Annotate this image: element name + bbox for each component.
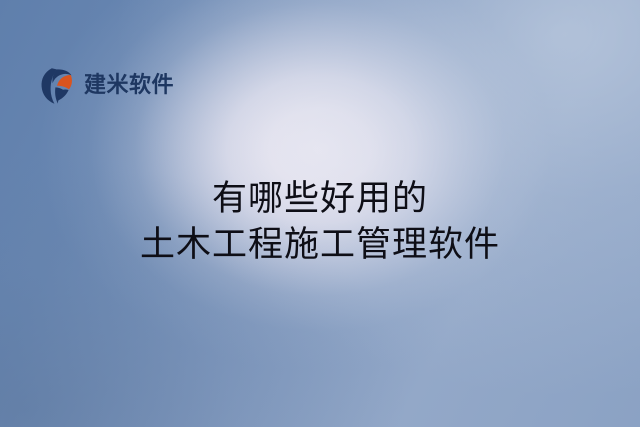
brand-logo[interactable]: 建米软件 <box>39 66 174 106</box>
brand-logo-text: 建米软件 <box>84 75 174 97</box>
headline-line-2: 土木工程施工管理软件 <box>0 222 640 268</box>
headline-line-1: 有哪些好用的 <box>0 176 640 222</box>
promo-banner: 建米软件 有哪些好用的 土木工程施工管理软件 <box>0 0 640 427</box>
jianmi-logo-icon <box>39 66 79 106</box>
headline: 有哪些好用的 土木工程施工管理软件 <box>0 176 640 268</box>
